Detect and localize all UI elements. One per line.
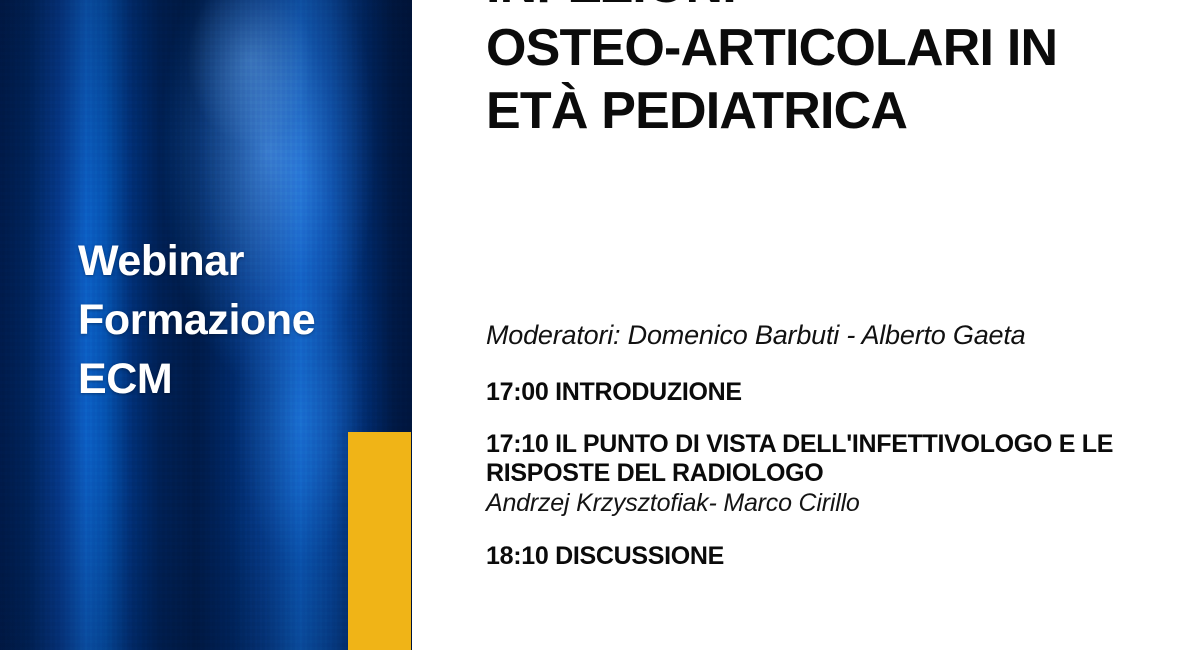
webinar-headline-line-2: Formazione — [78, 291, 398, 350]
agenda-item: 18:10 DISCUSSIONE — [486, 542, 1126, 571]
page-title: INFEZIONI OSTEO-ARTICOLARI IN ETÀ PEDIAT… — [486, 0, 1126, 143]
agenda-item-speakers: Andrzej Krzysztofiak- Marco Cirillo — [486, 488, 1126, 519]
agenda-item: 17:10 IL PUNTO DI VISTA DELL'INFETTIVOLO… — [486, 430, 1126, 519]
page-title-line-3: ETÀ PEDIATRICA — [486, 80, 1126, 143]
agenda-item: 17:00 INTRODUZIONE — [486, 378, 1126, 407]
content-column: INFEZIONI OSTEO-ARTICOLARI IN ETÀ PEDIAT… — [486, 0, 1146, 650]
agenda-item-title: 17:10 IL PUNTO DI VISTA DELL'INFETTIVOLO… — [486, 430, 1126, 488]
date-banner: AIO 17:00 — [348, 432, 411, 650]
webinar-poster: Webinar Formazione ECM AIO 17:00 INFEZIO… — [0, 0, 1200, 650]
date-banner-inner: AIO 17:00 — [348, 432, 411, 650]
webinar-headline-line-1: Webinar — [78, 232, 398, 291]
webinar-headline-line-3: ECM — [78, 350, 398, 409]
webinar-headline: Webinar Formazione ECM — [78, 232, 398, 409]
agenda-item-title: 18:10 DISCUSSIONE — [486, 542, 1126, 571]
page-title-line-1: INFEZIONI — [486, 0, 1126, 17]
page-title-line-2: OSTEO-ARTICOLARI IN — [486, 17, 1126, 80]
agenda-list: 17:00 INTRODUZIONE 17:10 IL PUNTO DI VIS… — [486, 378, 1126, 571]
agenda-item-title: 17:00 INTRODUZIONE — [486, 378, 1126, 407]
moderators-line: Moderatori: Domenico Barbuti - Alberto G… — [486, 320, 1025, 351]
